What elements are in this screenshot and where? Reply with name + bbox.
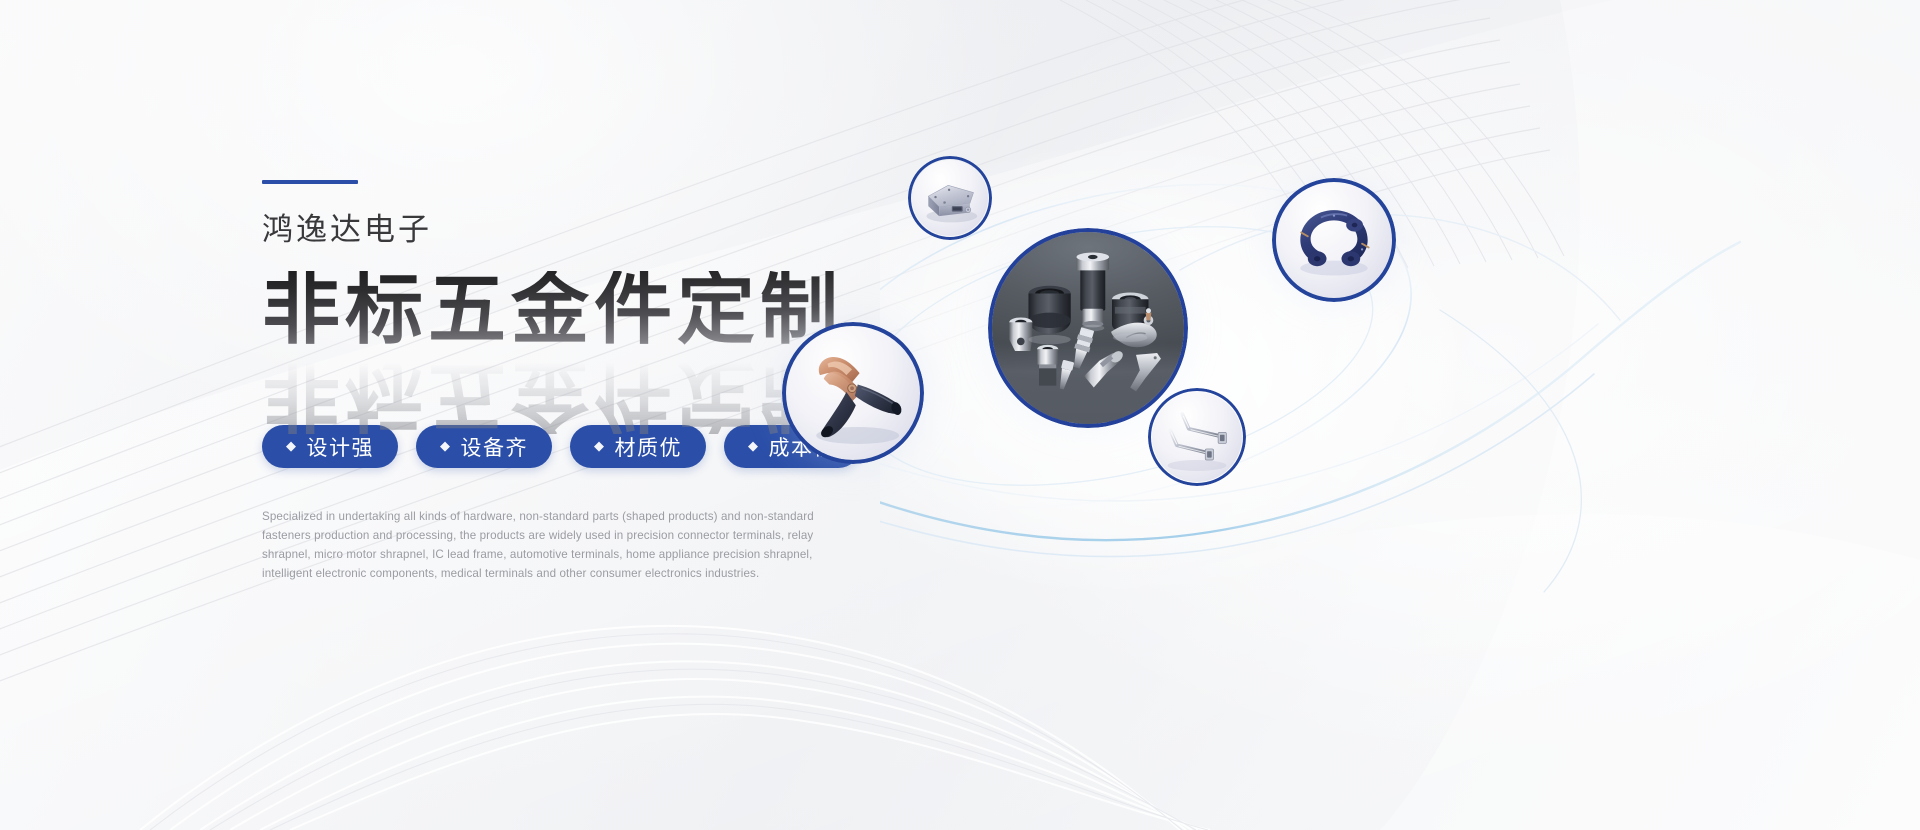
product-showcase — [880, 150, 1880, 670]
feature-pill-label: 材质优 — [615, 432, 683, 462]
product-bubble-retaining-ring[interactable] — [1272, 178, 1396, 302]
bent-terminal-pins-photo — [1152, 392, 1242, 482]
blue-retaining-ring-photo — [1276, 182, 1392, 298]
product-bubble-terminal-pins[interactable] — [1148, 388, 1246, 486]
feature-pill-label: 设备齐 — [461, 432, 529, 462]
feature-pill-material[interactable]: ◆ 材质优 — [570, 425, 706, 468]
metal-enclosure-photo — [912, 160, 988, 236]
copper-alligator-clip-photo — [786, 326, 920, 460]
company-description: Specialized in undertaking all kinds of … — [262, 508, 822, 583]
feature-pill-label: 设计强 — [307, 432, 375, 462]
product-bubble-clip[interactable] — [782, 322, 924, 464]
feature-pill-equipment[interactable]: ◆ 设备齐 — [416, 425, 552, 468]
diamond-icon: ◆ — [286, 440, 298, 453]
accent-bar — [262, 180, 358, 184]
brand-subtitle: 鸿逸达电子 — [262, 212, 902, 249]
diamond-icon: ◆ — [748, 440, 760, 453]
diamond-icon: ◆ — [594, 440, 606, 453]
product-bubble-enclosure[interactable] — [908, 156, 992, 240]
feature-pill-design[interactable]: ◆ 设计强 — [262, 425, 398, 468]
diamond-icon: ◆ — [440, 440, 452, 453]
headline-reflection: 非标五金件定制 — [262, 356, 843, 434]
hero-banner: 鸿逸达电子 非标五金件定制 非标五金件定制 ◆ 设计强 ◆ 设备齐 ◆ 材质优 … — [0, 0, 1920, 830]
